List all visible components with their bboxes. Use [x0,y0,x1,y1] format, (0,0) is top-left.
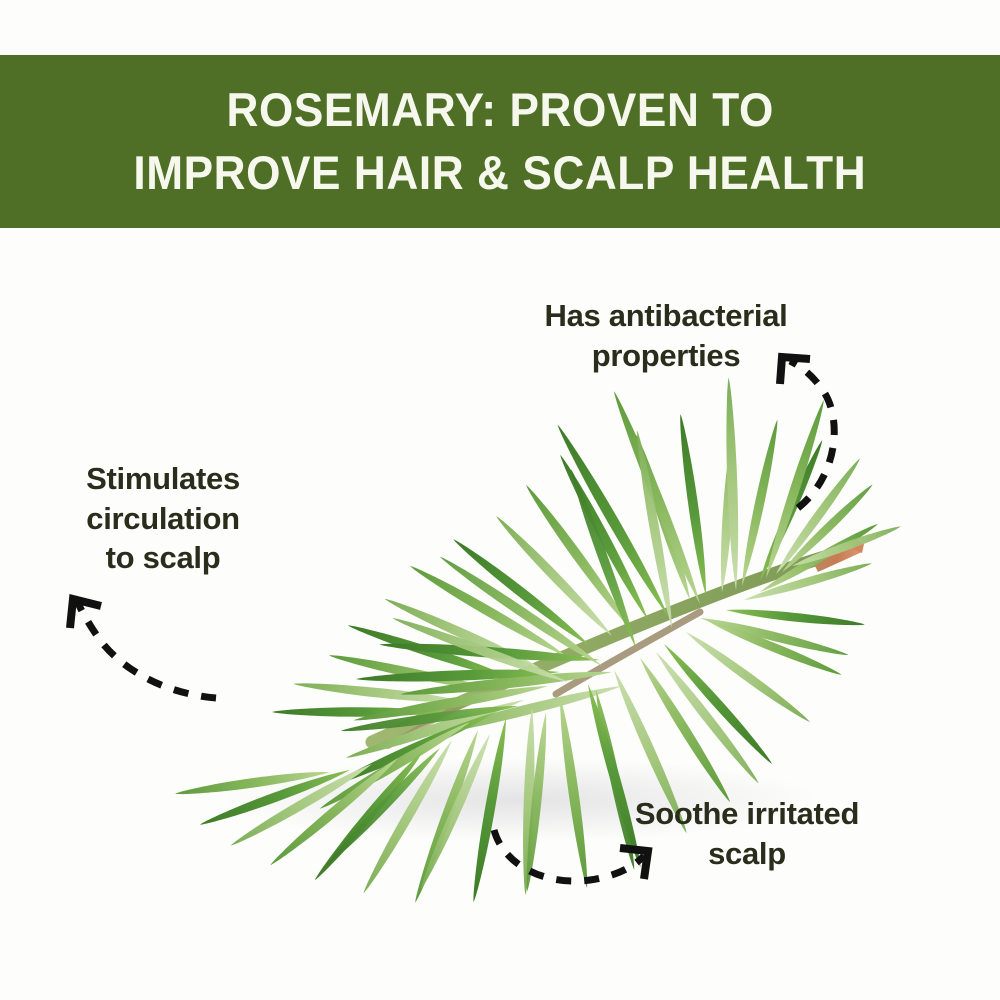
callout-soothe-line-2: scalp [588,834,906,874]
callout-circulation-line-2: circulation [38,499,288,539]
callout-antibacterial: Has antibacterial properties [496,296,836,375]
arrow-to-circulation [70,599,216,698]
callout-antibacterial-line-1: Has antibacterial [496,296,836,336]
leaf-cluster-mid [317,639,623,813]
header-title-line-1: ROSEMARY: PROVEN TO [226,79,773,141]
header-title-line-2: IMPROVE HAIR & SCALP HEALTH [134,142,867,204]
callout-antibacterial-line-2: properties [496,336,836,376]
cut-stem-tip [812,539,864,572]
leaf-cluster-upper [272,377,864,716]
callout-soothe-line-1: Soothe irritated [588,794,906,834]
callout-circulation-line-1: Stimulates [38,459,288,499]
sprig-stem [372,556,828,746]
infographic-canvas: ROSEMARY: PROVEN TO IMPROVE HAIR & SCALP… [0,0,1000,1000]
callout-circulation: Stimulates circulation to scalp [38,459,288,578]
callout-circulation-line-3: to scalp [38,538,288,578]
header-banner: ROSEMARY: PROVEN TO IMPROVE HAIR & SCALP… [0,55,1000,228]
callout-soothe: Soothe irritated scalp [588,794,906,873]
arrow-to-antibacterial [780,357,834,508]
